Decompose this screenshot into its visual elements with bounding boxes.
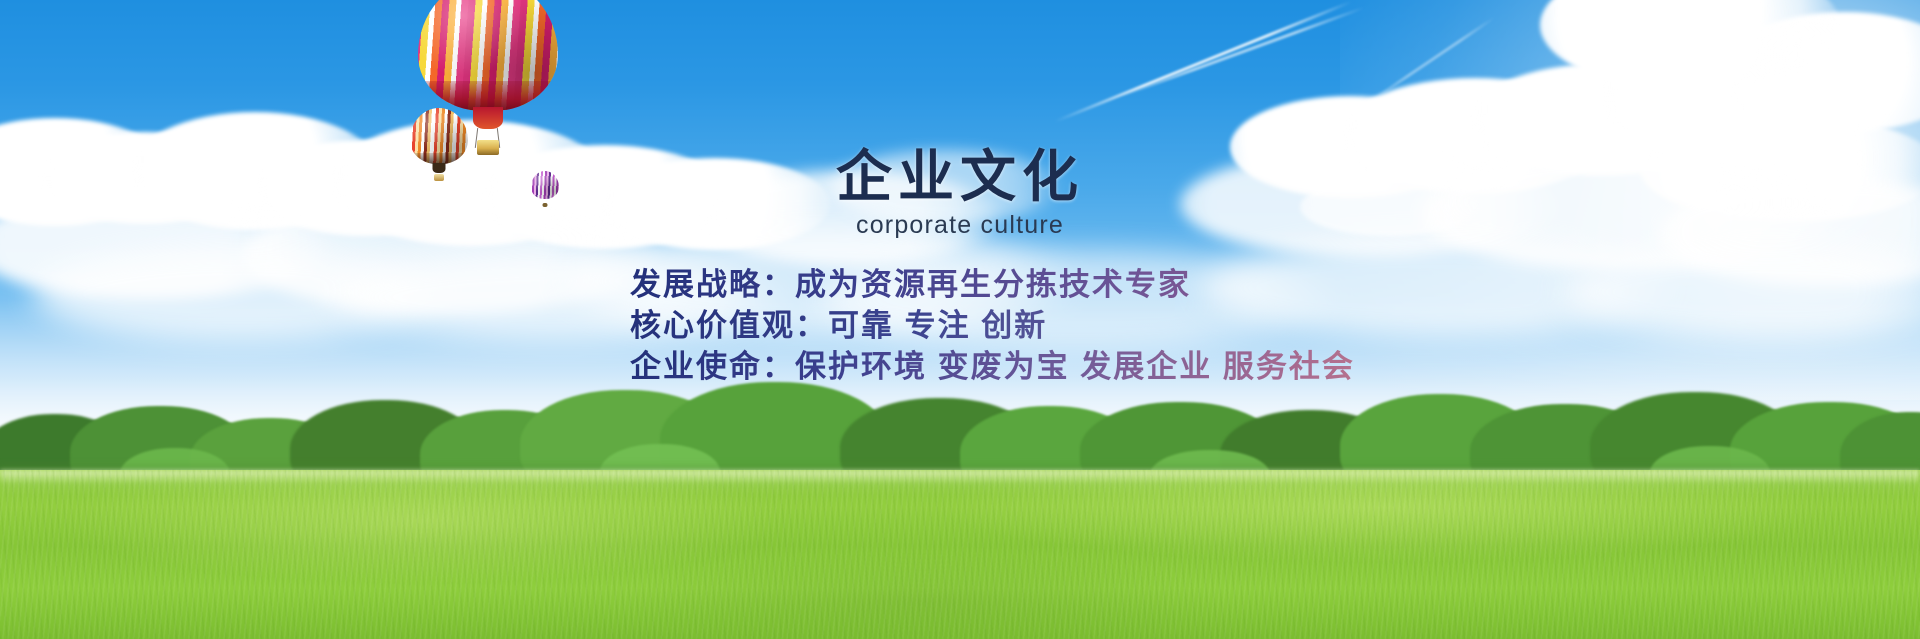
- hot-air-balloon-medium: [410, 108, 468, 180]
- grass-field: [0, 470, 1920, 639]
- corporate-culture-banner: 企业文化 corporate culture 发展战略：成为资源再生分拣技术专家…: [0, 0, 1920, 639]
- grass-texture: [0, 470, 1920, 639]
- hot-air-balloon-small: [531, 171, 559, 207]
